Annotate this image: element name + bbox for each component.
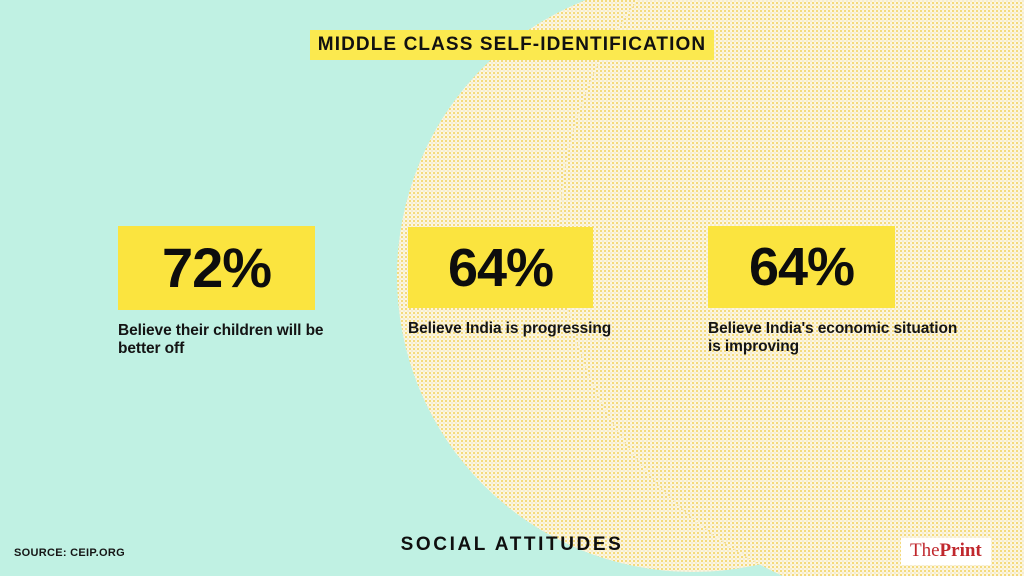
stat-value-box-1: 72% xyxy=(118,226,315,310)
stat-value-box-2: 64% xyxy=(408,227,593,308)
stat-value-2: 64% xyxy=(448,241,553,295)
stat-caption-2: Believe India is progressing xyxy=(408,320,618,338)
stat-caption-3: Believe India's economic situation is im… xyxy=(708,320,958,355)
stat-caption-1: Believe their children will be better of… xyxy=(118,322,348,357)
page-title: MIDDLE CLASS SELF-IDENTIFICATION xyxy=(310,30,714,60)
category-label: SOCIAL ATTITUDES xyxy=(0,534,1024,556)
stat-value-1: 72% xyxy=(162,240,271,296)
theprint-logo: ThePrint xyxy=(901,538,991,565)
stat-block-2: 64% Believe India is progressing xyxy=(408,227,618,338)
infographic-canvas: MIDDLE CLASS SELF-IDENTIFICATION 72% Bel… xyxy=(0,0,1024,576)
stat-block-1: 72% Believe their children will be bette… xyxy=(118,226,348,357)
logo-print-text: Print xyxy=(940,540,982,561)
stat-value-3: 64% xyxy=(749,240,854,294)
stat-value-box-3: 64% xyxy=(708,226,895,308)
stat-block-3: 64% Believe India's economic situation i… xyxy=(708,226,958,355)
title-container: MIDDLE CLASS SELF-IDENTIFICATION xyxy=(0,30,1024,60)
logo-the-text: The xyxy=(910,540,940,561)
